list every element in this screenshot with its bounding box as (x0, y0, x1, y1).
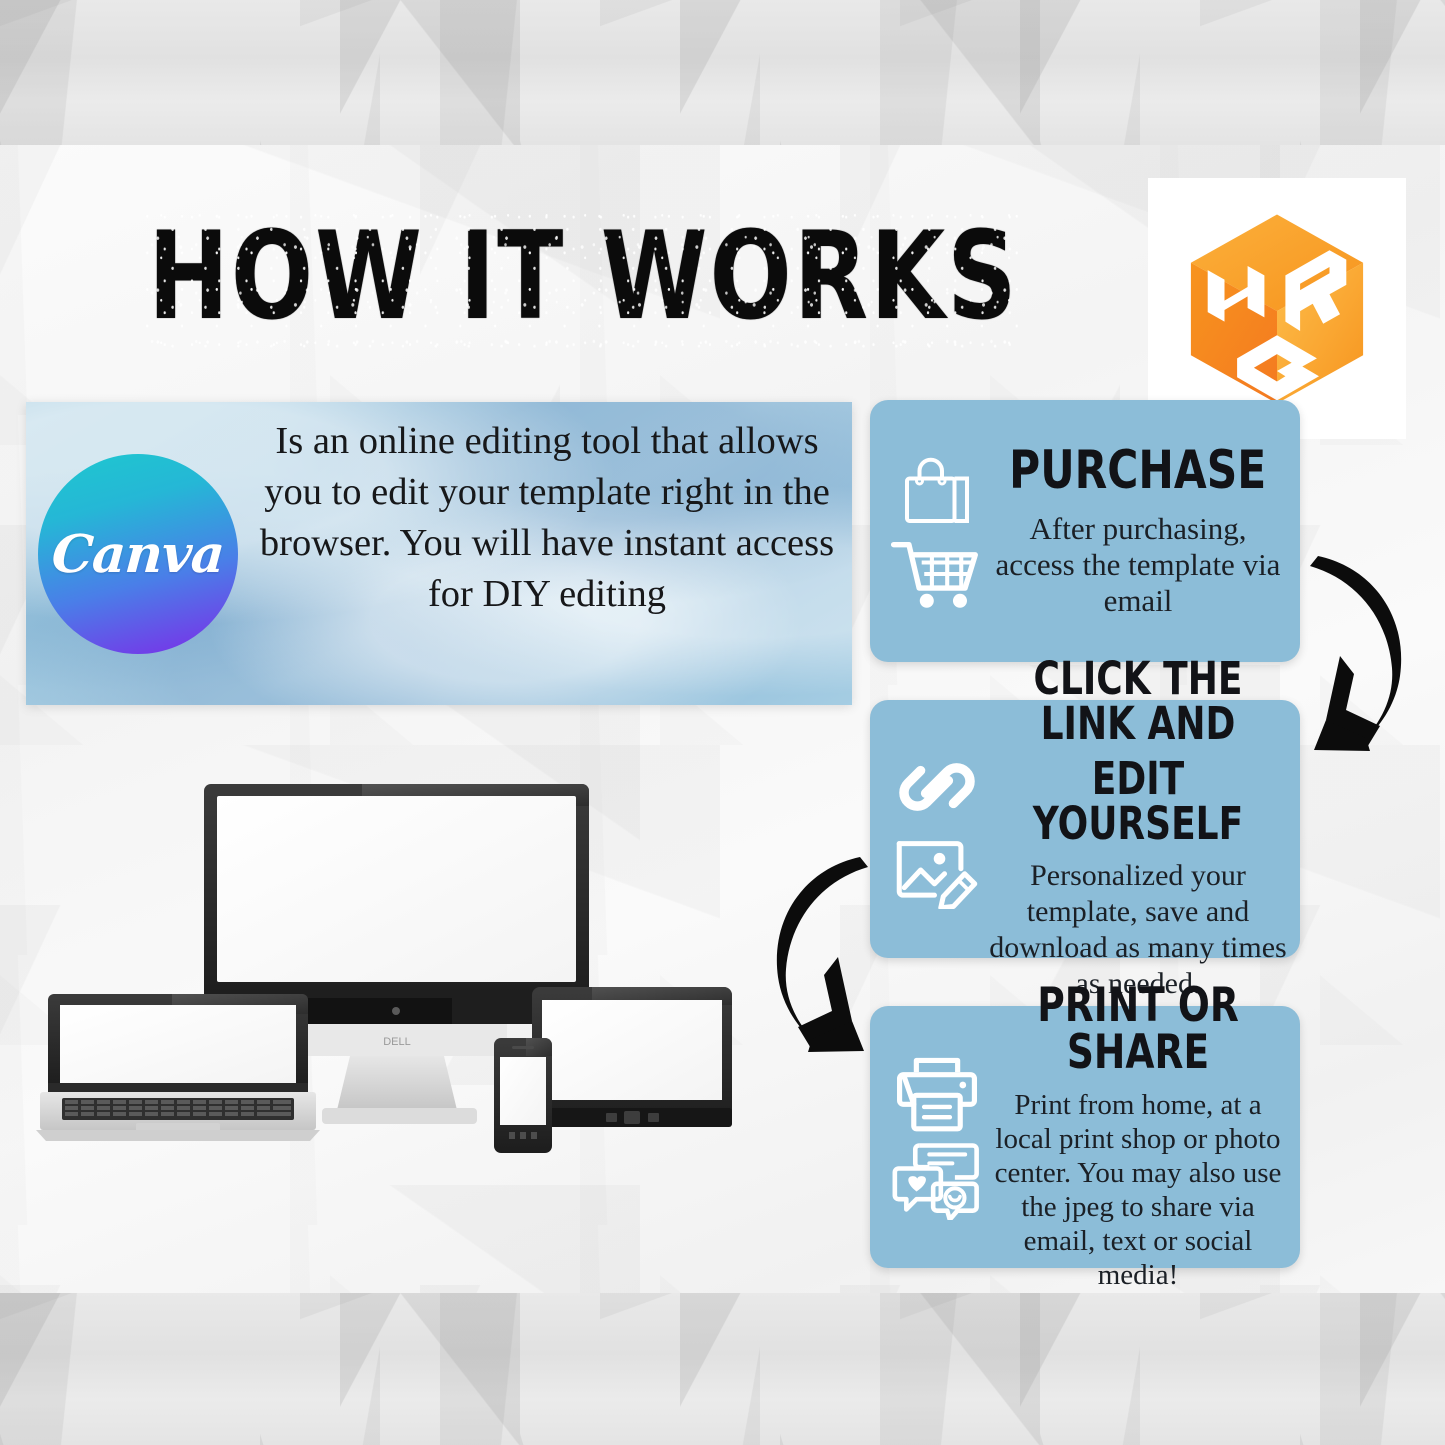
print-share-text-group: PRINT OR SHARE Print from home, at a loc… (988, 1006, 1288, 1268)
print-share-body: Print from home, at a local print shop o… (988, 1088, 1288, 1292)
edit-icon-group (884, 700, 990, 958)
print-share-icon-group (884, 1006, 990, 1268)
svg-text:DELL: DELL (383, 1036, 411, 1048)
shopping-bag-icon (896, 451, 978, 531)
edit-heading-line2: EDIT YOURSELF (1018, 756, 1258, 846)
bottom-border-texture (0, 1293, 1445, 1445)
edit-heading-line1: CLICK THE LINK AND (1018, 656, 1258, 746)
hrg-cube-logo-icon (1172, 204, 1382, 414)
purchase-icon-group (884, 400, 990, 662)
curved-arrow-down-right-icon (752, 845, 882, 1065)
link-chain-icon (894, 749, 980, 825)
infographic-canvas: HOW IT WORKS (0, 145, 1445, 1293)
step-card-print-share[interactable]: PRINT OR SHARE Print from home, at a loc… (870, 1006, 1300, 1268)
canva-logo-badge: Canva (38, 454, 238, 654)
top-border-texture (0, 0, 1445, 145)
printer-icon (893, 1054, 981, 1134)
step-card-edit[interactable]: CLICK THE LINK AND EDIT YOURSELF Persona… (870, 700, 1300, 958)
devices-illustration-icon: DELL (32, 772, 762, 1187)
canva-info-panel: Canva Is an online editing tool that all… (26, 402, 852, 705)
canva-brand-label: Canva (50, 524, 226, 585)
edit-text-group: CLICK THE LINK AND EDIT YOURSELF Persona… (988, 700, 1288, 958)
devices-mockup-photo: DELL (32, 772, 762, 1187)
purchase-heading: PURCHASE (1009, 444, 1266, 497)
step-card-purchase[interactable]: PURCHASE After purchasing, access the te… (870, 400, 1300, 662)
page-title: HOW IT WORKS (148, 206, 1019, 348)
arrow-purchase-to-edit (1296, 544, 1426, 764)
curved-arrow-down-left-icon (1296, 544, 1426, 764)
shopping-cart-icon (891, 537, 983, 611)
canva-description: Is an online editing tool that allows yo… (254, 416, 840, 620)
purchase-body: After purchasing, access the template vi… (988, 511, 1288, 619)
arrow-edit-to-print (752, 845, 882, 1065)
image-edit-pencil-icon (891, 831, 983, 909)
share-chat-bubbles-icon (891, 1140, 983, 1220)
purchase-text-group: PURCHASE After purchasing, access the te… (988, 400, 1288, 662)
print-share-heading: PRINT OR SHARE (1018, 982, 1258, 1076)
